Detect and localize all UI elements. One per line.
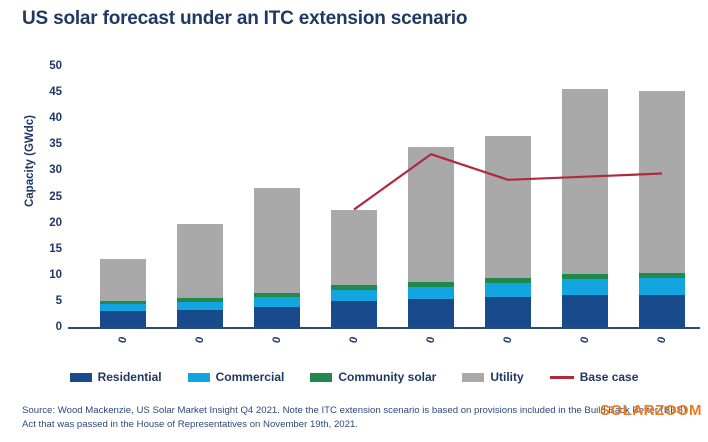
y-tick-label: 10 bbox=[2, 269, 62, 281]
y-tick-label: 40 bbox=[2, 112, 62, 124]
y-tick-label: 50 bbox=[2, 60, 62, 72]
x-tick-label: 0 bbox=[100, 334, 146, 346]
bar-segment[interactable] bbox=[408, 147, 454, 282]
bar-segment[interactable] bbox=[331, 301, 377, 327]
bar-segment[interactable] bbox=[562, 274, 608, 280]
y-tick-label: 20 bbox=[2, 217, 62, 229]
watermark-label: SOLARZOOM bbox=[600, 402, 702, 419]
legend-line-icon bbox=[550, 376, 574, 379]
bar-segment[interactable] bbox=[100, 301, 146, 304]
bar-segment[interactable] bbox=[408, 287, 454, 299]
source-note: Source: Wood Mackenzie, US Solar Market … bbox=[22, 404, 690, 432]
legend-label: Base case bbox=[580, 370, 639, 384]
bar-segment[interactable] bbox=[331, 290, 377, 301]
y-tick-label: 35 bbox=[2, 138, 62, 150]
bar-segment[interactable] bbox=[177, 298, 223, 302]
legend-item[interactable]: Base case bbox=[550, 370, 639, 384]
legend-label: Utility bbox=[490, 370, 523, 384]
legend-swatch-icon bbox=[310, 373, 332, 382]
x-tick-label: 0 bbox=[254, 334, 300, 346]
bar-segment[interactable] bbox=[100, 259, 146, 301]
x-tick-label: 0 bbox=[177, 334, 223, 346]
legend-label: Community solar bbox=[338, 370, 436, 384]
bar-segment[interactable] bbox=[485, 136, 531, 278]
bar-segment[interactable] bbox=[254, 188, 300, 293]
y-tick-label: 5 bbox=[2, 295, 62, 307]
bar-segment[interactable] bbox=[331, 210, 377, 286]
bar-segment[interactable] bbox=[485, 297, 531, 327]
bar-segment[interactable] bbox=[254, 293, 300, 297]
x-tick-label: 0 bbox=[562, 334, 608, 346]
bar-segment[interactable] bbox=[177, 310, 223, 327]
legend-label: Commercial bbox=[216, 370, 285, 384]
bar-segment[interactable] bbox=[331, 285, 377, 290]
bar-segment[interactable] bbox=[639, 295, 685, 327]
y-tick-label: 30 bbox=[2, 164, 62, 176]
x-tick-label: 0 bbox=[408, 334, 454, 346]
legend-item[interactable]: Commercial bbox=[188, 370, 285, 384]
bar-segment[interactable] bbox=[562, 89, 608, 274]
y-tick-label: 25 bbox=[2, 191, 62, 203]
y-tick-label: 15 bbox=[2, 243, 62, 255]
bar-segment[interactable] bbox=[100, 311, 146, 327]
bar-segment[interactable] bbox=[100, 304, 146, 311]
legend-item[interactable]: Community solar bbox=[310, 370, 436, 384]
legend-item[interactable]: Residential bbox=[70, 370, 162, 384]
x-tick-label: 0 bbox=[485, 334, 531, 346]
bar-segment[interactable] bbox=[562, 295, 608, 327]
bar-segment[interactable] bbox=[177, 302, 223, 310]
bar-segment[interactable] bbox=[254, 297, 300, 306]
bar-segment[interactable] bbox=[562, 279, 608, 294]
legend-item[interactable]: Utility bbox=[462, 370, 523, 384]
bar-segment[interactable] bbox=[485, 278, 531, 283]
y-tick-label: 0 bbox=[2, 321, 62, 333]
bar-segment[interactable] bbox=[408, 282, 454, 287]
bar-segment[interactable] bbox=[639, 273, 685, 279]
bar-segment[interactable] bbox=[254, 307, 300, 327]
bar-segment[interactable] bbox=[485, 283, 531, 297]
bar-segment[interactable] bbox=[177, 224, 223, 298]
legend-swatch-icon bbox=[462, 373, 484, 382]
legend-swatch-icon bbox=[70, 373, 92, 382]
legend-swatch-icon bbox=[188, 373, 210, 382]
y-tick-label: 45 bbox=[2, 86, 62, 98]
legend-label: Residential bbox=[98, 370, 162, 384]
x-tick-label: 0 bbox=[331, 334, 377, 346]
chart-legend: ResidentialCommercialCommunity solarUtil… bbox=[0, 366, 708, 388]
x-tick-label: 0 bbox=[639, 334, 685, 346]
bar-segment[interactable] bbox=[639, 278, 685, 294]
chart-container: US solar forecast under an ITC extension… bbox=[0, 0, 708, 442]
bar-segment[interactable] bbox=[408, 299, 454, 327]
bar-segment[interactable] bbox=[639, 91, 685, 273]
